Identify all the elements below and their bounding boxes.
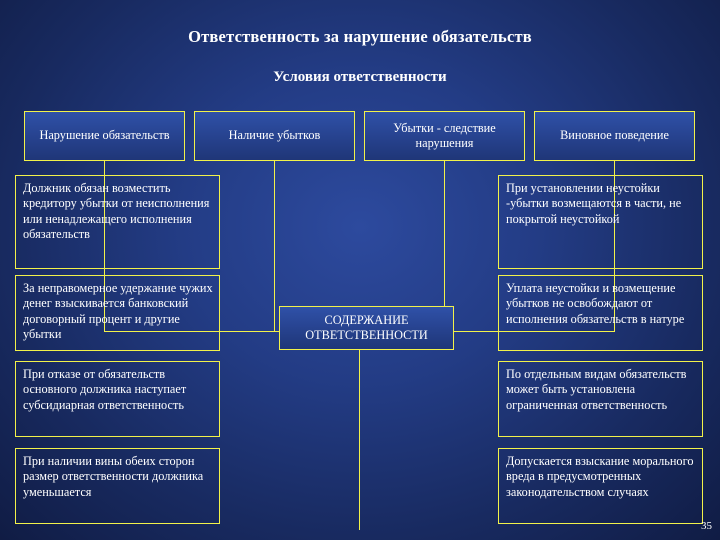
condition-box-4[interactable]: Виновное поведение xyxy=(534,111,695,161)
page-title: Ответственность за нарушение обязательст… xyxy=(0,27,720,47)
center-node-line-2: ОТВЕТСТВЕННОСТИ xyxy=(305,328,427,343)
page-subtitle: Условия ответственности xyxy=(0,69,720,86)
condition-box-1-label: Нарушение обязательств xyxy=(39,128,169,143)
condition-box-1[interactable]: Нарушение обязательств xyxy=(24,111,185,161)
page-number: 35 xyxy=(701,520,712,532)
right-item-4-label: Допускается взыскание морального вреда в… xyxy=(506,454,693,499)
connector-vertical-center xyxy=(359,331,360,530)
condition-box-3-label: Убытки - следствие нарушения xyxy=(371,121,518,152)
right-item-2[interactable]: Уплата неустойки и возмещение убытков не… xyxy=(498,275,703,351)
slide-root: Ответственность за нарушение обязательст… xyxy=(0,0,720,540)
condition-box-2[interactable]: Наличие убытков xyxy=(194,111,355,161)
right-item-1-label: При установлении неустойки -убытки возме… xyxy=(506,181,681,226)
connector-vertical-2 xyxy=(274,161,275,332)
center-node-line-1: СОДЕРЖАНИЕ xyxy=(325,313,409,328)
left-item-4[interactable]: При наличии вины обеих сторон размер отв… xyxy=(15,448,220,524)
left-item-4-label: При наличии вины обеих сторон размер отв… xyxy=(23,454,203,499)
right-item-3-label: По отдельным видам обязательств может бы… xyxy=(506,367,686,412)
left-item-1[interactable]: Должник обязан возместить кредитору убыт… xyxy=(15,175,220,269)
right-item-3[interactable]: По отдельным видам обязательств может бы… xyxy=(498,361,703,437)
condition-box-2-label: Наличие убытков xyxy=(229,128,321,143)
left-item-3[interactable]: При отказе от обязательств основного дол… xyxy=(15,361,220,437)
right-item-4[interactable]: Допускается взыскание морального вреда в… xyxy=(498,448,703,524)
left-item-2-label: За неправомерное удержание чужих денег в… xyxy=(23,281,213,341)
center-node[interactable]: СОДЕРЖАНИЕ ОТВЕТСТВЕННОСТИ xyxy=(279,306,454,350)
condition-box-3[interactable]: Убытки - следствие нарушения xyxy=(364,111,525,161)
right-item-2-label: Уплата неустойки и возмещение убытков не… xyxy=(506,281,684,326)
left-item-3-label: При отказе от обязательств основного дол… xyxy=(23,367,186,412)
left-item-1-label: Должник обязан возместить кредитору убыт… xyxy=(23,181,209,241)
right-item-1[interactable]: При установлении неустойки -убытки возме… xyxy=(498,175,703,269)
left-item-2[interactable]: За неправомерное удержание чужих денег в… xyxy=(15,275,220,351)
condition-box-4-label: Виновное поведение xyxy=(560,128,669,143)
